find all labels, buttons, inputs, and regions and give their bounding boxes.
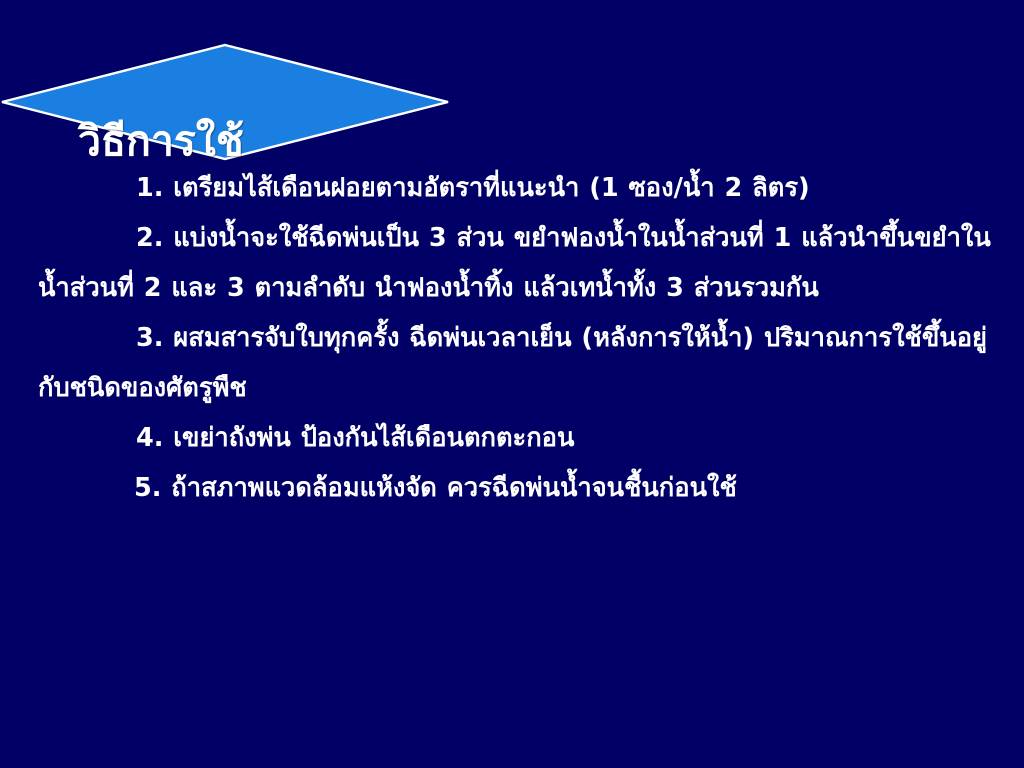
title-banner: วิธีการใช้ (0, 43, 450, 161)
list-item: 2. แบ่งน้ำจะใช้ฉีดพ่นเป็น 3 ส่วน ขยำฟองน… (0, 213, 1024, 313)
list-item: 3. ผสมสารจับใบทุกครั้ง ฉีดพ่นเวลาเย็น (ห… (0, 313, 1024, 413)
slide-canvas: วิธีการใช้ 1. เตรียมไส้เดือนฝอยตามอัตราท… (0, 0, 1024, 768)
list-item: 5. ถ้าสภาพแวดล้อมแห้งจัด ควรฉีดพ่นน้ำจนช… (0, 463, 1024, 513)
list-item: 1. เตรียมไส้เดือนฝอยตามอัตราที่แนะนำ (1 … (0, 163, 1024, 213)
page-title: วิธีการใช้ (78, 121, 408, 162)
instruction-list: 1. เตรียมไส้เดือนฝอยตามอัตราที่แนะนำ (1 … (0, 163, 1024, 513)
list-item: 4. เขย่าถังพ่น ป้องกันไส้เดือนตกตะกอน (0, 413, 1024, 463)
